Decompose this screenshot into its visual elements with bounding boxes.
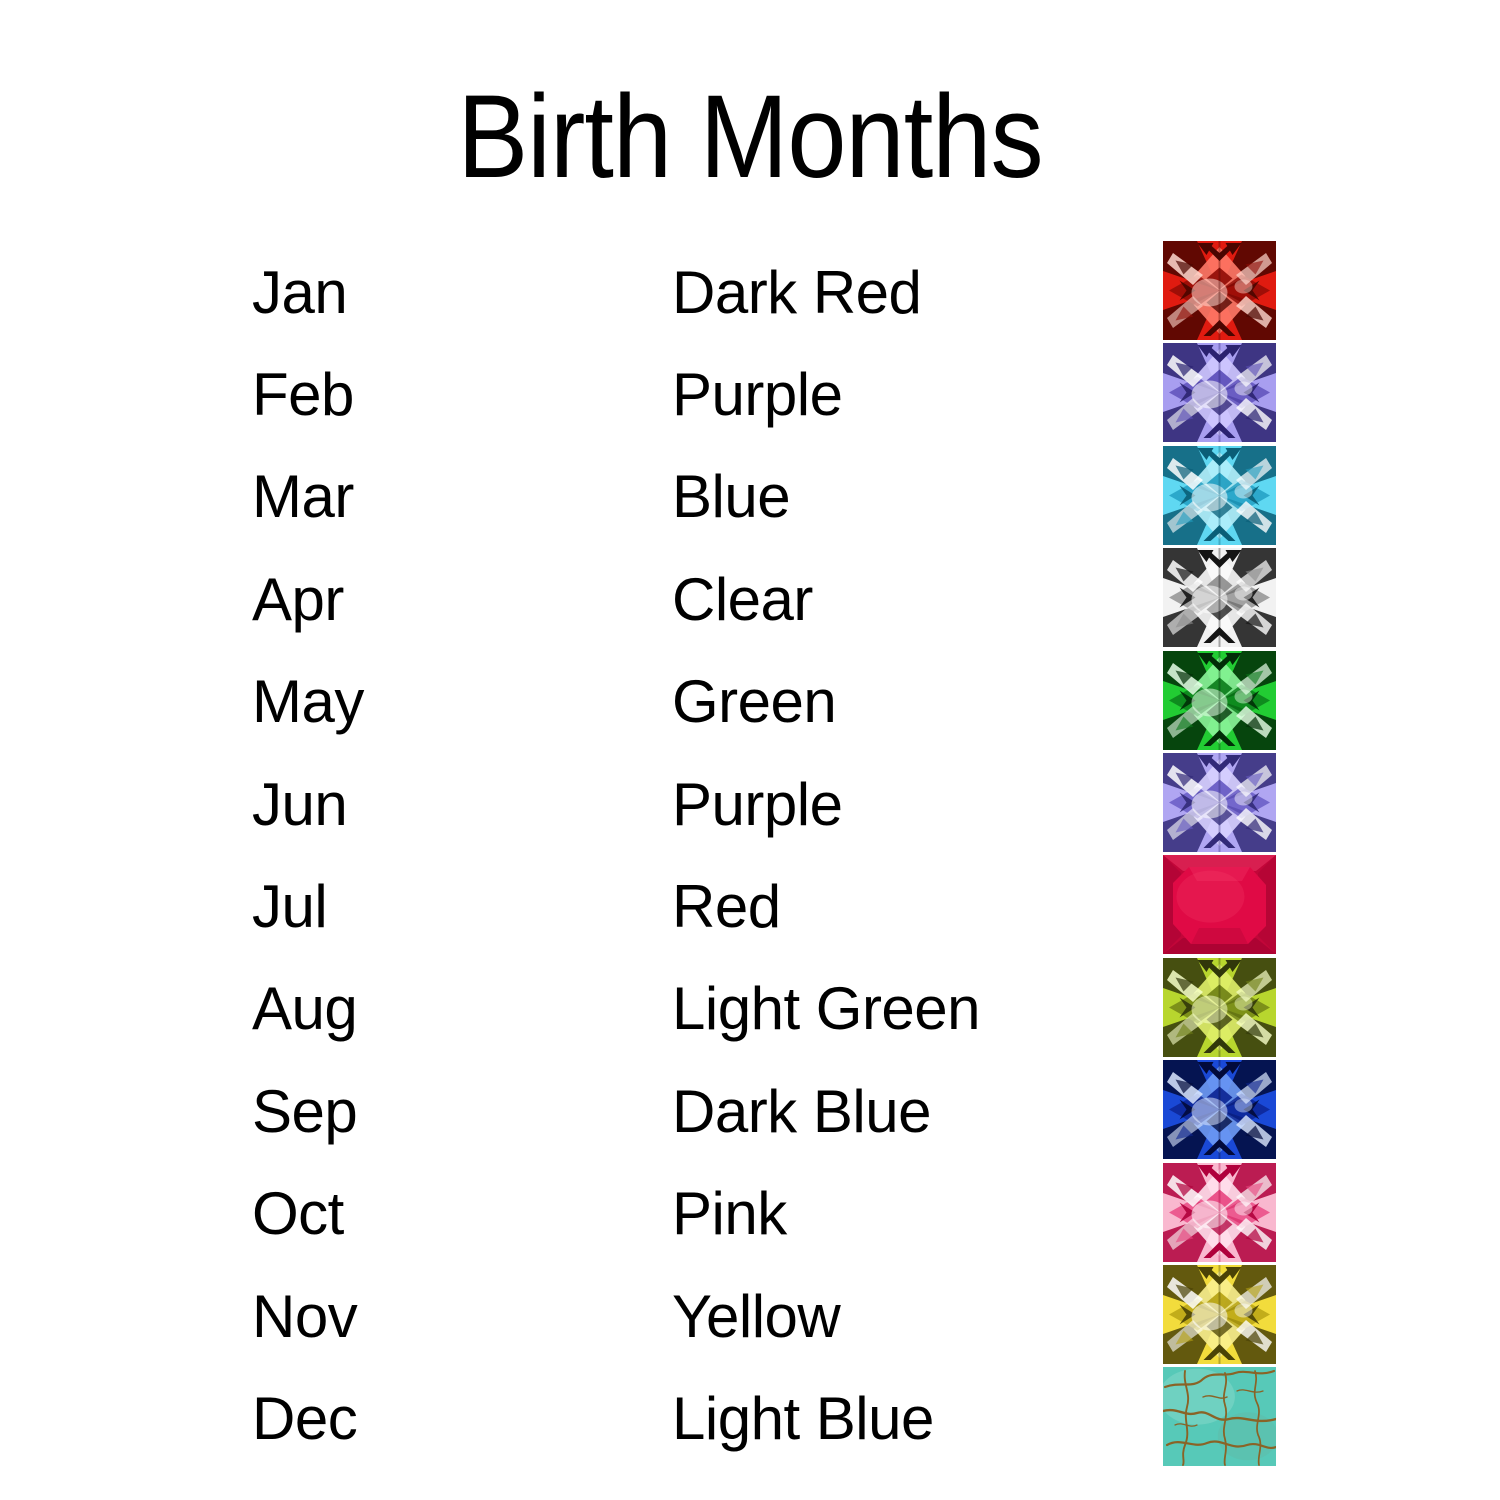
color-name-label: Dark Blue [672,1060,931,1162]
month-label: Aug [252,958,357,1060]
table-row: JulRed [0,855,1500,957]
color-name-label: Clear [672,548,813,650]
month-label: Jun [252,753,347,855]
garnet-gem [1163,241,1276,340]
diamond-gem [1163,548,1276,647]
month-label: Dec [252,1367,357,1469]
amethyst-gem [1163,343,1276,442]
table-row: MarBlue [0,446,1500,548]
color-name-label: Red [672,855,781,957]
aquamarine-gem [1163,446,1276,545]
month-label: Jan [252,241,347,343]
color-name-label: Light Green [672,958,980,1060]
table-row: MayGreen [0,651,1500,753]
month-label: Sep [252,1060,357,1162]
table-row: JanDark Red [0,241,1500,343]
month-label: Jul [252,855,327,957]
color-name-label: Pink [672,1163,787,1265]
month-label: Mar [252,446,354,548]
color-name-label: Blue [672,446,790,548]
page-title: Birth Months [75,70,1425,206]
color-name-label: Purple [672,343,842,445]
turquoise-gem [1163,1367,1276,1466]
color-name-label: Light Blue [672,1367,934,1469]
ruby-gem [1163,855,1276,954]
color-name-label: Green [672,651,836,753]
table-row: FebPurple [0,343,1500,445]
table-row: AprClear [0,548,1500,650]
sapphire-gem [1163,1060,1276,1159]
color-name-label: Purple [672,753,842,855]
table-row: JunPurple [0,753,1500,855]
color-name-label: Dark Red [672,241,921,343]
alexandrite-gem [1163,753,1276,852]
table-row: AugLight Green [0,958,1500,1060]
month-label: May [252,651,364,753]
color-name-label: Yellow [672,1265,840,1367]
citrine-gem [1163,1265,1276,1364]
month-label: Apr [252,548,344,650]
table-row: OctPink [0,1163,1500,1265]
month-label: Nov [252,1265,357,1367]
table-row: DecLight Blue [0,1367,1500,1469]
month-label: Feb [252,343,354,445]
month-label: Oct [252,1163,344,1265]
peridot-gem [1163,958,1276,1057]
table-row: SepDark Blue [0,1060,1500,1162]
tourmaline-gem [1163,1163,1276,1262]
emerald-gem [1163,651,1276,750]
birth-months-table: JanDark RedFebPurpleMarBlueAprClearMayGr… [0,241,1500,1470]
birth-months-infographic: Birth Months JanDark RedFebPurpleMarBlue… [0,0,1500,1500]
table-row: NovYellow [0,1265,1500,1367]
